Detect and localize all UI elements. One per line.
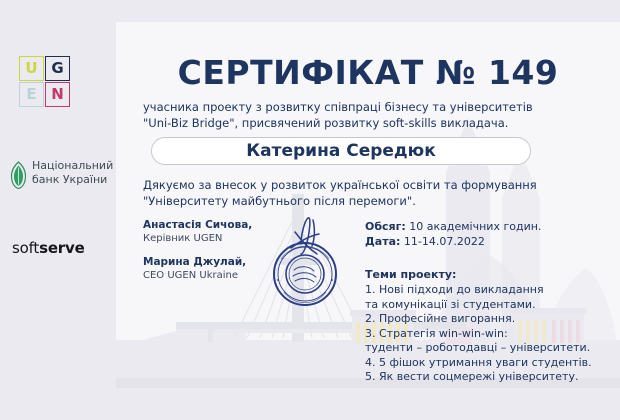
detail-volume: Обсяг: 10 академічних годин. (365, 219, 615, 234)
certificate-card: СЕРТИФІКАТ № 149 учасника проекту з розв… (116, 22, 620, 388)
topic-line: 3. Стратегія win-win-win: (365, 327, 617, 342)
nbu-logo-line1: Національний (32, 159, 113, 173)
certificate-subtitle: учасника проекту з розвитку співпраці бі… (143, 99, 595, 131)
ugen-logo: U G E N (19, 56, 77, 110)
nbu-logo-line2: банк України (32, 173, 113, 187)
project-topics: Теми проекту: 1. Нові підходи до виклада… (365, 267, 617, 385)
certificate-thanks: Дякуємо за внесок у розвиток української… (143, 177, 603, 209)
certificate-details: Обсяг: 10 академічних годин. Дата: 11-14… (365, 219, 615, 249)
certificate-thanks-line1: Дякуємо за внесок у розвиток української… (143, 177, 603, 193)
national-bank-of-ukraine-logo: Національний банк України (10, 158, 110, 198)
recipient-name: Катерина Середюк (246, 141, 435, 161)
detail-date-label: Дата: (365, 235, 400, 248)
topic-line: 2. Професійне вигорання. (365, 312, 617, 327)
detail-volume-value: 10 академічних годин. (409, 220, 541, 233)
sponsor-logo-rail: U G E N Національний банк України softse… (0, 0, 116, 420)
topic-line: 5. Як вести соцмережі університету. (365, 370, 617, 385)
official-seal-stamp-icon (261, 210, 371, 320)
topic-line: туденти – роботодавці – університети. (365, 341, 617, 356)
nbu-logo-text: Національний банк України (32, 159, 113, 186)
topic-line: 1. Нові підходи до викладання (365, 283, 617, 298)
ugen-letter-g: G (45, 56, 70, 81)
detail-volume-label: Обсяг: (365, 220, 406, 233)
recipient-name-box: Катерина Середюк (151, 137, 531, 165)
certificate-subtitle-line1: учасника проекту з розвитку співпраці бі… (143, 99, 595, 115)
detail-date-value: 11-14.07.2022 (404, 235, 485, 248)
ugen-letter-u: U (19, 56, 44, 81)
softserve-logo: softserve (12, 239, 85, 257)
certificate-subtitle-line2: "Uni-Biz Bridge", присвячений розвитку s… (143, 115, 595, 131)
softserve-bold-part: serve (39, 239, 84, 257)
ugen-letter-e: E (19, 82, 44, 107)
certificate-screen: U G E N Національний банк України softse… (0, 0, 620, 420)
topic-line: 4. 5 фішок утримання уваги студентів. (365, 356, 617, 371)
certificate-title: СЕРТИФІКАТ № 149 (116, 53, 620, 92)
project-topics-title: Теми проекту: (365, 267, 617, 282)
softserve-light-part: soft (12, 239, 39, 257)
ugen-letter-n: N (45, 82, 70, 107)
detail-date: Дата: 11-14.07.2022 (365, 234, 615, 249)
nbu-trident-mark-icon (10, 161, 27, 189)
certificate-content: СЕРТИФІКАТ № 149 учасника проекту з розв… (116, 22, 620, 388)
topic-line: та комунікації зі студентами. (365, 298, 617, 313)
certificate-thanks-line2: "Університету майбутнього після перемоги… (143, 193, 603, 209)
